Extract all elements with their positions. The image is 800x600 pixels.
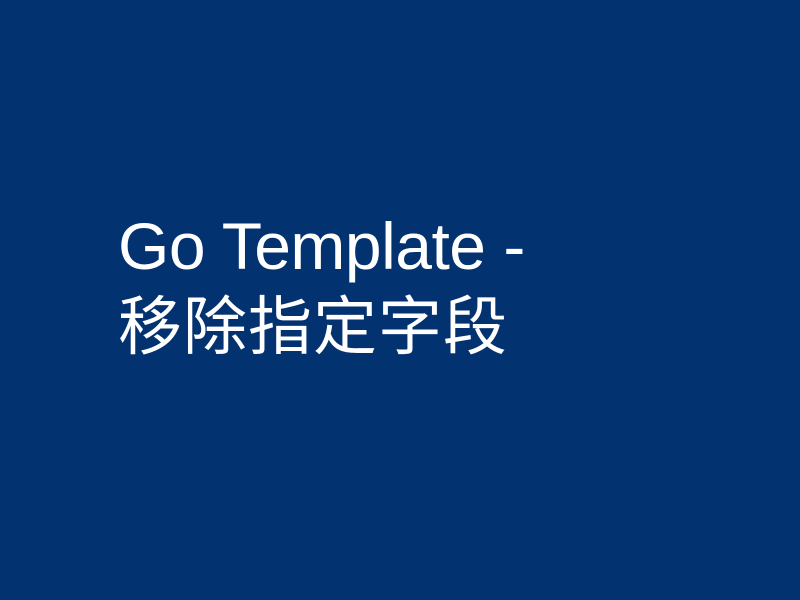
slide-title-line-1: Go Template - (118, 205, 525, 287)
slide-title-line-2: 移除指定字段 (118, 287, 508, 369)
title-slide: Go Template - 移除指定字段 (0, 0, 800, 600)
slide-title: Go Template - 移除指定字段 (118, 205, 718, 369)
